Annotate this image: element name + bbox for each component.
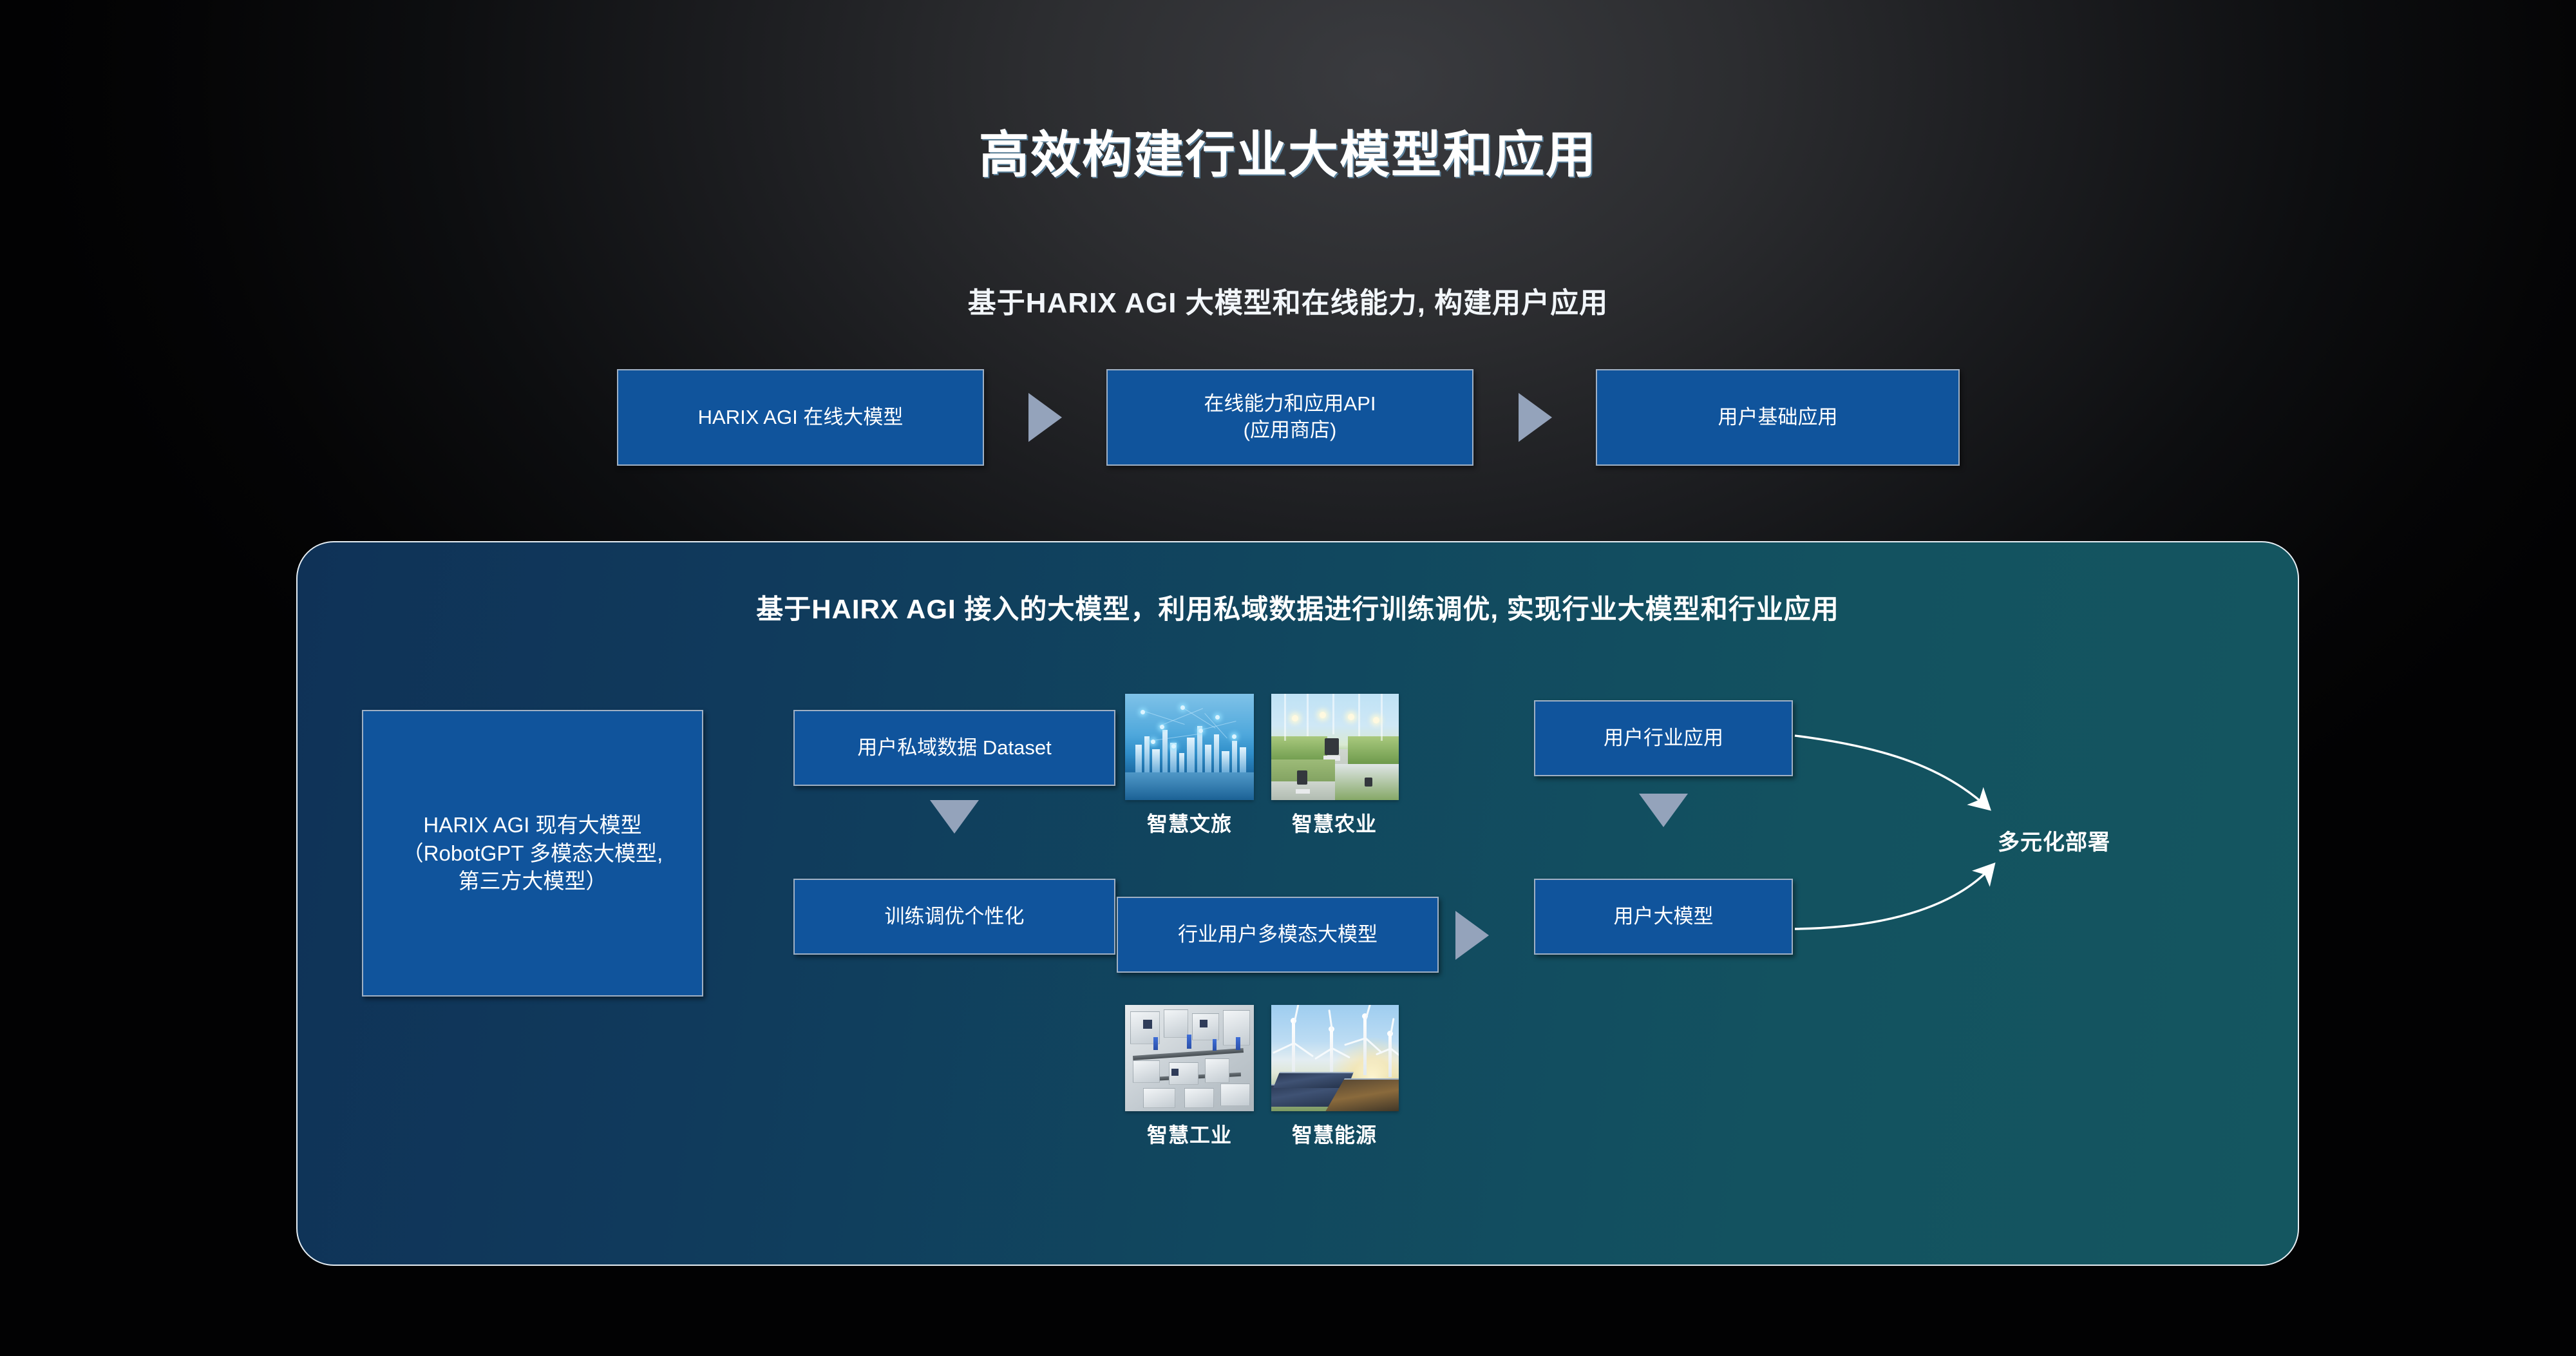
user-large-model-label: 用户大模型 [1614,904,1714,930]
thumbnail-smart-city [1125,694,1254,800]
thumbnail-smart-agriculture [1271,694,1399,800]
page-subtitle: 基于HARIX AGI 大模型和在线能力, 构建用户应用 [0,280,2576,321]
thumbnail-caption-1: 智慧文旅 [1112,808,1267,837]
user-industry-app-label: 用户行业应用 [1604,725,1723,752]
training-tuning-label: 训练调优个性化 [885,904,1025,930]
panel-box-user-industry-app[interactable]: 用户行业应用 [1534,700,1793,776]
triangle-right-icon-mid-to-right [1455,911,1489,960]
existing-models-line1: HARIX AGI 现有大模型 [423,811,641,839]
existing-models-line2: （RobotGPT 多模态大模型, [402,839,663,868]
page-title: 高效构建行业大模型和应用 [0,115,2576,187]
main-panel: 基于HAIRX AGI 接入的大模型，利用私域数据进行训练调优, 实现行业大模型… [296,541,2299,1266]
deployment-label: 多元化部署 [1998,825,2110,856]
existing-models-line3: 第三方大模型） [459,867,607,895]
triangle-down-icon-1 [930,800,979,834]
panel-heading: 基于HAIRX AGI 接入的大模型，利用私域数据进行训练调优, 实现行业大模型… [298,587,2298,627]
thumbnail-smart-energy [1271,1005,1399,1111]
panel-box-existing-models[interactable]: HARIX AGI 现有大模型 （RobotGPT 多模态大模型, 第三方大模型… [362,710,703,997]
thumbnail-smart-industry [1125,1005,1254,1111]
top-box-2-line2: (应用商店) [1244,417,1337,444]
panel-box-industry-multimodal-model[interactable]: 行业用户多模态大模型 [1117,897,1439,973]
top-box-online-capability-api[interactable]: 在线能力和应用API (应用商店) [1106,369,1473,466]
panel-box-user-large-model[interactable]: 用户大模型 [1534,879,1793,955]
thumbnail-caption-4: 智慧能源 [1257,1119,1412,1149]
panel-box-training-tuning[interactable]: 训练调优个性化 [793,879,1115,955]
triangle-right-icon-1 [1028,393,1062,442]
thumbnail-caption-2: 智慧农业 [1257,808,1412,837]
top-box-user-basic-app[interactable]: 用户基础应用 [1596,369,1960,466]
thumbnail-caption-3: 智慧工业 [1112,1119,1267,1149]
top-box-1-label: HARIX AGI 在线大模型 [698,405,904,431]
slide-canvas: 高效构建行业大模型和应用 基于HARIX AGI 大模型和在线能力, 构建用户应… [0,0,2576,1356]
panel-box-user-dataset[interactable]: 用户私域数据 Dataset [793,710,1115,786]
industry-model-label: 行业用户多模态大模型 [1178,922,1378,948]
top-box-harix-online-model[interactable]: HARIX AGI 在线大模型 [617,369,984,466]
user-dataset-label: 用户私域数据 Dataset [857,735,1051,761]
top-box-2-line1: 在线能力和应用API [1204,391,1376,417]
triangle-down-icon-2 [1639,794,1688,827]
triangle-right-icon-2 [1519,393,1552,442]
top-box-3-label: 用户基础应用 [1718,405,1838,431]
